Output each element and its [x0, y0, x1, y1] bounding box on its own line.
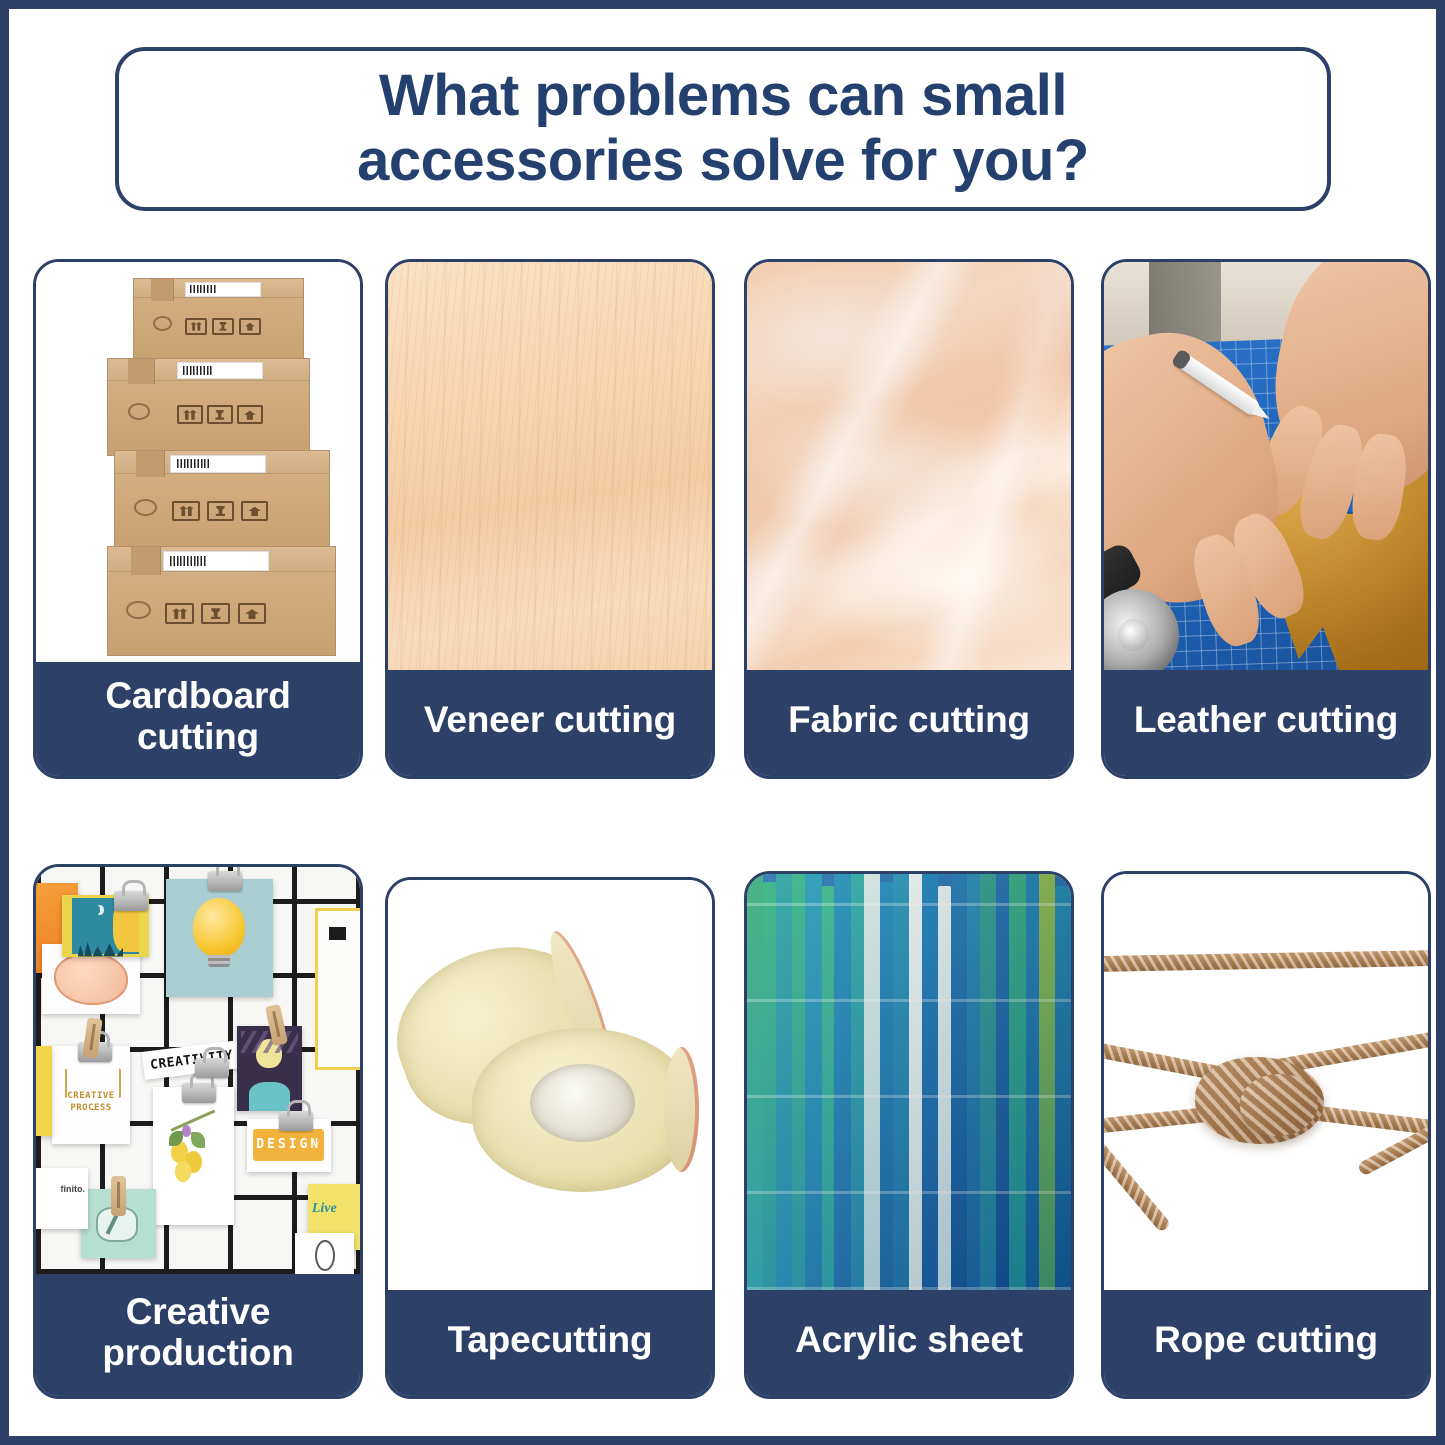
card-fabric-cutting[interactable]: Fabric cutting: [744, 259, 1074, 779]
card-label-fabric-cutting: Fabric cutting: [747, 670, 1071, 776]
clip-icon: [208, 871, 242, 891]
card-label-rope-cutting: Rope cutting: [1104, 1290, 1428, 1396]
clothespin-icon: [111, 1176, 126, 1216]
lightbulb-icon: [193, 898, 244, 957]
rope-tail-right: [1357, 1124, 1428, 1176]
clip-icon: [114, 891, 148, 911]
infographic-page: What problems can small accessories solv…: [0, 0, 1445, 1445]
moodboard-illustration: CREATIVE PROCESS CREATIVITY: [36, 867, 360, 1274]
satin-fabric-illustration: [747, 262, 1071, 670]
tape-roll-lower: [472, 1028, 692, 1192]
card-cardboard-cutting[interactable]: Cardboard cutting: [33, 259, 363, 779]
card-image-moodboard: CREATIVE PROCESS CREATIVITY: [36, 867, 360, 1274]
card-acrylic-sheet[interactable]: Acrylic sheet: [744, 871, 1074, 1399]
card-grid: Cardboard cutting Veneer cutting Fabric …: [9, 9, 1436, 1436]
pinned-card-white-right: [315, 908, 360, 1071]
wood-veneer-illustration: [388, 262, 712, 670]
leather-cutting-illustration: [1104, 262, 1428, 670]
card-leather-cutting[interactable]: Leather cutting: [1101, 259, 1431, 779]
clip-icon: [182, 1083, 216, 1103]
rope-tail-left: [1104, 1134, 1171, 1232]
moodboard-text-live: Live: [312, 1201, 360, 1217]
clip-icon: [195, 1058, 229, 1078]
moodboard-text-small: finito.: [60, 1184, 85, 1194]
tape-rolls-illustration: [388, 880, 712, 1290]
clip-icon: [279, 1111, 313, 1131]
card-label-tapecutting: Tapecutting: [388, 1290, 712, 1396]
pinned-card-white-left: finito.: [36, 1168, 88, 1229]
moodboard-text-design: DESIGN: [253, 1129, 324, 1161]
pinned-card-dark-figure: [237, 1026, 302, 1111]
card-image-rope: [1104, 874, 1428, 1290]
card-image-veneer: [388, 262, 712, 670]
rope-illustration: [1104, 874, 1428, 1290]
moodboard-text-creative-process: CREATIVE PROCESS: [58, 1091, 123, 1114]
card-label-leather-cutting: Leather cutting: [1104, 670, 1428, 776]
pinned-card-yellow-left: [36, 1046, 52, 1136]
card-veneer-cutting[interactable]: Veneer cutting: [385, 259, 715, 779]
pinned-card-lightbulb: [166, 879, 273, 997]
pinned-card-lemons: [153, 1087, 234, 1225]
card-image-fabric: [747, 262, 1071, 670]
card-image-acrylic: [747, 874, 1071, 1290]
card-label-veneer-cutting: Veneer cutting: [388, 670, 712, 776]
card-label-cardboard-cutting: Cardboard cutting: [36, 662, 360, 776]
acrylic-slats-illustration: [747, 874, 1071, 1290]
card-creative-production[interactable]: CREATIVE PROCESS CREATIVITY: [33, 864, 363, 1399]
straight-rope-strand: [1104, 950, 1428, 972]
card-label-creative-production: Creative production: [36, 1274, 360, 1396]
card-rope-cutting[interactable]: Rope cutting: [1101, 871, 1431, 1399]
card-image-cardboard: [36, 262, 360, 662]
pinned-card-smiley: [295, 1233, 353, 1274]
card-image-leather: [1104, 262, 1428, 670]
card-label-acrylic-sheet: Acrylic sheet: [747, 1290, 1071, 1396]
cardboard-boxes-illustration: [36, 262, 360, 662]
card-image-tape: [388, 880, 712, 1290]
card-tapecutting[interactable]: Tapecutting: [385, 877, 715, 1399]
rotary-cutter: [1104, 556, 1227, 670]
